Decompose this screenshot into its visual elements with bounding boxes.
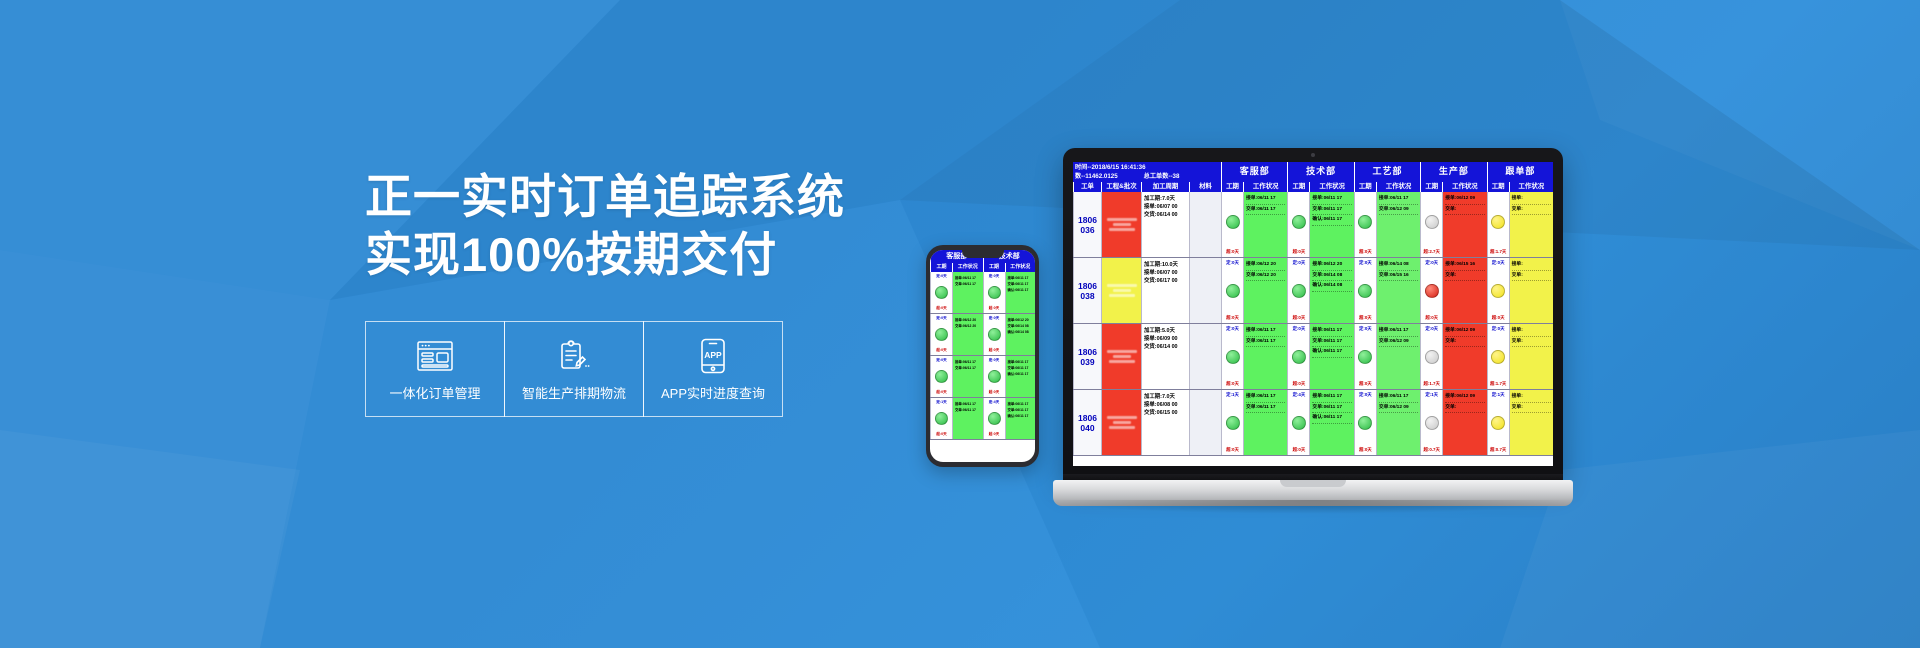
work-order-cell: 1806038 xyxy=(1073,258,1101,323)
table-row[interactable]: 1806038加工期:10.0天接单:06/07 00交货:06/17 00定:… xyxy=(1073,258,1553,324)
phone-status-cell-0: 接单:06/12 20交单:06/12 20 xyxy=(952,314,983,355)
phone-status-indicator-green xyxy=(988,370,1001,383)
deliver-date: 交单: xyxy=(1512,206,1551,216)
duration-cell-工艺部: 超:0天 xyxy=(1354,192,1376,257)
erp-row-list: 1806036加工期:7.0天接单:06/07 00交货:06/14 00超:0… xyxy=(1073,192,1553,456)
receive-date: 接单:06/12 09 xyxy=(1445,327,1484,337)
over-days: 超:1.7天 xyxy=(1424,381,1440,387)
over-days: 超:0天 xyxy=(1492,315,1505,321)
erp-sub-col-1-0: 工期 xyxy=(1287,182,1309,192)
phone-status-cell-0: 接单:06/11 17交单:06/11 17 xyxy=(952,272,983,313)
erp-count-label: 数--11462.0125 xyxy=(1075,172,1118,181)
work-status-cell-跟单部: 接单:交单: xyxy=(1509,192,1553,257)
erp-base-col-1: 工程&批次 xyxy=(1101,182,1141,192)
phone-over-days: 超:0天 xyxy=(936,390,946,395)
erp-sub-col-2-0: 工期 xyxy=(1354,182,1376,192)
work-status-cell-客服部: 接单:06/11 17交单:06/11 17 xyxy=(1243,390,1287,455)
work-status-cell-生产部: 接单:06/12 09交单: xyxy=(1442,324,1486,389)
svg-text:APP: APP xyxy=(704,350,722,360)
status-indicator-green xyxy=(1226,416,1240,430)
erp-sub-col-0-0: 工期 xyxy=(1221,182,1243,192)
plan-days-top: 定:0天 xyxy=(1425,260,1438,266)
work-status-cell-技术部: 接单:06/11 17交单:06/11 17确认:06/11 17 xyxy=(1309,324,1353,389)
redacted-line xyxy=(1107,284,1137,287)
phone-col-duration-1: 工期 xyxy=(983,263,1005,272)
material-cell xyxy=(1189,390,1221,455)
phone-over-days: 超:0天 xyxy=(936,306,946,311)
phone-duration-cell-0: 定:0天超:0天 xyxy=(930,356,952,397)
phone-deliver-date: 交单:06/11 17 xyxy=(955,407,981,413)
duration-cell-客服部: 定:0天超:0天 xyxy=(1221,324,1243,389)
confirm-date: 确认:06/11 17 xyxy=(1312,414,1351,424)
plan-days-top: 定:4天 xyxy=(1293,392,1306,398)
work-order-top: 1806 xyxy=(1078,215,1097,225)
work-status-cell-工艺部: 接单:06/11 17交单:06/12 09 xyxy=(1376,324,1420,389)
redacted-line xyxy=(1109,360,1135,363)
status-indicator-yellow xyxy=(1491,215,1505,229)
receive-date: 接单: xyxy=(1512,261,1551,271)
deliver-date: 交单:06/12 09 xyxy=(1379,206,1418,216)
feature-box-list: 一体化订单管理 智能生产排期物流 APP xyxy=(365,321,783,417)
laptop-mockup: 时间--2018/6/15 16:41:36 数--11462.0125 总工单… xyxy=(1053,148,1573,518)
plan-days-top: 定:0天 xyxy=(1359,260,1372,266)
plan-days-top: 定:0天 xyxy=(1293,260,1306,266)
due-date: 交货:06/15 00 xyxy=(1144,409,1187,417)
status-indicator-green xyxy=(1292,416,1306,430)
phone-duration-cell-0: 定:0天超:0天 xyxy=(930,272,952,313)
duration-cell-工艺部: 定:0天超:0天 xyxy=(1354,258,1376,323)
status-indicator-green xyxy=(1226,350,1240,364)
receive-date: 接单:06/11 17 xyxy=(1379,393,1418,403)
headline-line-1: 正一实时订单追踪系统 xyxy=(365,168,925,226)
phone-status-cell-1: 接单:06/12 20交单:06/14 08确认:06/14 08 xyxy=(1005,314,1036,355)
duration-cell-技术部: 定:4天超:0天 xyxy=(1287,390,1309,455)
work-status-cell-工艺部: 接单:06/14 08交单:06/15 16 xyxy=(1376,258,1420,323)
over-days: 超:0天 xyxy=(1226,249,1239,255)
erp-dept-3: 生产部 xyxy=(1420,162,1486,182)
redacted-line xyxy=(1113,421,1131,424)
phone-deliver-date: 交单:06/12 20 xyxy=(955,323,981,329)
deliver-date: 交单:06/11 17 xyxy=(1312,206,1351,216)
status-indicator-yellow xyxy=(1491,284,1505,298)
receive-date: 接单:06/12 20 xyxy=(1246,261,1285,271)
work-status-cell-工艺部: 接单:06/11 17交单:06/12 09 xyxy=(1376,192,1420,257)
erp-base-col-0: 工单 xyxy=(1073,182,1101,192)
phone-over-days: 超:0天 xyxy=(989,348,999,353)
redacted-line xyxy=(1113,355,1131,358)
work-status-cell-工艺部: 接单:06/11 17交单:06/12 09 xyxy=(1376,390,1420,455)
phone-duration-cell-0: 定:0天超:0天 xyxy=(930,314,952,355)
phone-table-row[interactable]: 定:1天超:0天接单:06/11 17交单:06/11 17定:4天超:0天接单… xyxy=(930,398,1035,440)
work-order-top: 1806 xyxy=(1078,281,1097,291)
plan-days-top: 定:0天 xyxy=(1492,326,1505,332)
duration-cell-跟单部: 定:0天超:0天 xyxy=(1487,258,1509,323)
deliver-date: 交单:06/14 08 xyxy=(1312,272,1351,282)
receive-date: 接单:06/11 17 xyxy=(1379,327,1418,337)
phone-status-cell-1: 接单:06/11 17交单:06/11 17确认:06/11 17 xyxy=(1005,356,1036,397)
work-status-cell-生产部: 接单:06/15 16交单: xyxy=(1442,258,1486,323)
due-date: 交货:06/14 00 xyxy=(1144,343,1187,351)
phone-confirm-date: 确认:06/11 17 xyxy=(1008,287,1034,293)
deliver-date: 交单:06/15 16 xyxy=(1379,272,1418,282)
mobile-app-icon: APP xyxy=(700,336,726,376)
plan-days-top: 定:1天 xyxy=(1425,392,1438,398)
deliver-date: 交单:06/12 20 xyxy=(1246,272,1285,282)
processing-cycle-cell: 加工期:10.0天接单:06/07 00交货:06/17 00 xyxy=(1141,258,1189,323)
erp-dept-1: 技术部 xyxy=(1287,162,1353,182)
erp-sub-col-3-1: 工作状况 xyxy=(1442,182,1486,192)
status-indicator-gray xyxy=(1425,215,1439,229)
work-order-cell: 1806039 xyxy=(1073,324,1101,389)
work-status-cell-生产部: 接单:06/12 09交单: xyxy=(1442,192,1486,257)
redacted-line xyxy=(1107,218,1137,221)
cycle-days: 加工期:7.0天 xyxy=(1144,393,1187,401)
table-row[interactable]: 1806040加工期:7.0天接单:06/08 00交货:06/15 00定:1… xyxy=(1073,390,1553,456)
deliver-date: 交单: xyxy=(1512,404,1551,414)
receive-date: 接单:06/11 17 xyxy=(1246,393,1285,403)
deliver-date: 交单: xyxy=(1445,206,1484,216)
erp-sub-col-1-1: 工作状况 xyxy=(1309,182,1353,192)
headline-line-2: 实现100%按期交付 xyxy=(365,226,925,284)
erp-dashboard: 时间--2018/6/15 16:41:36 数--11462.0125 总工单… xyxy=(1073,162,1553,466)
erp-sub-col-3-0: 工期 xyxy=(1420,182,1442,192)
feature-card-app-progress[interactable]: APP APP实时进度查询 xyxy=(643,321,783,417)
erp-dept-4: 跟单部 xyxy=(1487,162,1553,182)
table-row[interactable]: 1806036加工期:7.0天接单:06/07 00交货:06/14 00超:0… xyxy=(1073,192,1553,258)
over-days: 超:0天 xyxy=(1359,315,1372,321)
phone-duration-cell-1: 定:0天超:0天 xyxy=(983,356,1005,397)
duration-cell-技术部: 定:0天超:0天 xyxy=(1287,324,1309,389)
feature-card-production-scheduling[interactable]: 智能生产排期物流 xyxy=(504,321,644,417)
duration-cell-客服部: 超:0天 xyxy=(1221,192,1243,257)
laptop-shadow xyxy=(1039,500,1587,514)
processing-cycle-cell: 加工期:5.0天接单:06/09 00交货:06/14 00 xyxy=(1141,324,1189,389)
status-indicator-yellow xyxy=(1491,416,1505,430)
receive-date: 接单:06/11 17 xyxy=(1312,327,1351,337)
work-order-top: 1806 xyxy=(1078,347,1097,357)
erp-base-col-2: 加工周期 xyxy=(1141,182,1189,192)
order-in-date: 接单:06/08 00 xyxy=(1144,401,1187,409)
status-indicator-green xyxy=(1226,215,1240,229)
status-indicator-green xyxy=(1358,215,1372,229)
duration-cell-客服部: 定:0天超:0天 xyxy=(1221,258,1243,323)
receive-date: 接单: xyxy=(1512,195,1551,205)
phone-deliver-date: 交单:06/11 17 xyxy=(955,365,981,371)
duration-cell-工艺部: 定:0天超:0天 xyxy=(1354,324,1376,389)
erp-sub-col-0-1: 工作状况 xyxy=(1243,182,1287,192)
phone-col-status-0: 工作状况 xyxy=(952,263,983,272)
feature-label: 一体化订单管理 xyxy=(389,383,480,402)
receive-date: 接单:06/11 17 xyxy=(1379,195,1418,205)
redacted-line xyxy=(1109,294,1135,297)
redacted-line xyxy=(1113,223,1131,226)
over-days: 超:1.7天 xyxy=(1490,381,1506,387)
work-order-top: 1806 xyxy=(1078,413,1097,423)
phone-confirm-date: 确认:06/11 17 xyxy=(1008,371,1034,377)
work-status-cell-跟单部: 接单:交单: xyxy=(1509,258,1553,323)
erp-base-col-3: 材料 xyxy=(1189,182,1221,192)
deliver-date: 交单:06/11 17 xyxy=(1246,338,1285,348)
work-order-bottom: 036 xyxy=(1078,225,1097,235)
plan-days-top: 定:0天 xyxy=(1425,326,1438,332)
phone-duration-cell-1: 定:4天超:0天 xyxy=(983,398,1005,439)
status-indicator-green xyxy=(1292,284,1306,298)
phone-status-cell-0: 接单:06/11 17交单:06/11 17 xyxy=(952,398,983,439)
work-status-cell-技术部: 接单:06/12 20交单:06/14 08确认:06/14 08 xyxy=(1309,258,1353,323)
phone-subheader: 工期 工作状况 工期 工作状况 xyxy=(930,263,1035,272)
phone-row-list: 定:0天超:0天接单:06/11 17交单:06/11 17定:0天超:0天接单… xyxy=(930,272,1035,440)
confirm-date: 确认:06/11 17 xyxy=(1312,216,1351,226)
erp-sub-col-4-0: 工期 xyxy=(1487,182,1509,192)
deliver-date: 交单:06/12 09 xyxy=(1379,338,1418,348)
over-days: 超:2.7天 xyxy=(1424,249,1440,255)
laptop-screen[interactable]: 时间--2018/6/15 16:41:36 数--11462.0125 总工单… xyxy=(1073,162,1553,466)
laptop-lid: 时间--2018/6/15 16:41:36 数--11462.0125 总工单… xyxy=(1063,148,1563,478)
plan-days-top: 定:0天 xyxy=(1492,260,1505,266)
erp-sub-col-2-1: 工作状况 xyxy=(1376,182,1420,192)
over-days: 超:0天 xyxy=(1293,315,1306,321)
receive-date: 接单:06/14 08 xyxy=(1379,261,1418,271)
status-indicator-red xyxy=(1425,284,1439,298)
phone-plan-days: 定:1天 xyxy=(936,400,946,405)
phone-table-row[interactable]: 定:0天超:0天接单:06/11 17交单:06/11 17定:0天超:0天接单… xyxy=(930,356,1035,398)
over-days: 超:0天 xyxy=(1359,249,1372,255)
receive-date: 接单: xyxy=(1512,327,1551,337)
receive-date: 接单:06/12 09 xyxy=(1445,195,1484,205)
project-batch-cell xyxy=(1101,192,1141,257)
material-cell xyxy=(1189,192,1221,257)
work-status-cell-技术部: 接单:06/11 17交单:06/11 17确认:06/11 17 xyxy=(1309,192,1353,257)
hero-copy: 正一实时订单追踪系统 实现100%按期交付 xyxy=(365,168,925,284)
deliver-date: 交单:06/11 17 xyxy=(1312,404,1351,414)
work-status-cell-客服部: 接单:06/11 17交单:06/11 17 xyxy=(1243,324,1287,389)
phone-duration-cell-0: 定:1天超:0天 xyxy=(930,398,952,439)
plan-days-top: 定:1天 xyxy=(1492,392,1505,398)
phone-confirm-date: 确认:06/14 08 xyxy=(1008,329,1034,335)
status-indicator-green xyxy=(1358,350,1372,364)
status-indicator-gray xyxy=(1425,350,1439,364)
phone-over-days: 超:0天 xyxy=(936,432,946,437)
processing-cycle-cell: 加工期:7.0天接单:06/07 00交货:06/14 00 xyxy=(1141,192,1189,257)
deliver-date: 交单: xyxy=(1445,338,1484,348)
table-row[interactable]: 1806039加工期:5.0天接单:06/09 00交货:06/14 00定:0… xyxy=(1073,324,1553,390)
phone-col-status-1: 工作状况 xyxy=(1005,263,1036,272)
erp-dept-0: 客服部 xyxy=(1221,162,1287,182)
duration-cell-工艺部: 定:0天超:0天 xyxy=(1354,390,1376,455)
due-date: 交货:06/17 00 xyxy=(1144,277,1187,285)
phone-screen[interactable]: 客服部 技术部 工期 工作状况 工期 工作状况 定:0天超:0天接单:06/11… xyxy=(930,250,1035,462)
phone-status-indicator-green xyxy=(988,328,1001,341)
processing-cycle-cell: 加工期:7.0天接单:06/08 00交货:06/15 00 xyxy=(1141,390,1189,455)
order-in-date: 接单:06/09 00 xyxy=(1144,335,1187,343)
deliver-date: 交单: xyxy=(1445,272,1484,282)
phone-plan-days: 定:0天 xyxy=(936,274,946,279)
phone-deliver-date: 交单:06/11 17 xyxy=(955,281,981,287)
plan-days-top: 定:0天 xyxy=(1359,326,1372,332)
work-order-bottom: 040 xyxy=(1078,423,1097,433)
phone-over-days: 超:0天 xyxy=(989,306,999,311)
phone-over-days: 超:0天 xyxy=(989,432,999,437)
feature-label: 智能生产排期物流 xyxy=(522,383,626,402)
plan-days-top: 定:0天 xyxy=(1226,260,1239,266)
material-cell xyxy=(1189,258,1221,323)
receive-date: 接单:06/11 17 xyxy=(1246,327,1285,337)
plan-days-top: 定:0天 xyxy=(1359,392,1372,398)
status-indicator-gray xyxy=(1425,416,1439,430)
phone-notch xyxy=(962,250,1004,258)
erp-column-header: 工单工程&批次加工周期材料工期工作状况工期工作状况工期工作状况工期工作状况工期工… xyxy=(1073,182,1553,192)
duration-cell-技术部: 定:0天超:0天 xyxy=(1287,258,1309,323)
deliver-date: 交单: xyxy=(1512,338,1551,348)
work-status-cell-跟单部: 接单:交单: xyxy=(1509,324,1553,389)
work-order-cell: 1806036 xyxy=(1073,192,1101,257)
erp-time-label: 时间--2018/6/15 16:41:36 xyxy=(1075,163,1146,172)
duration-cell-生产部: 定:0天超:1.7天 xyxy=(1420,324,1442,389)
work-order-bottom: 038 xyxy=(1078,291,1097,301)
deliver-date: 交单:06/12 09 xyxy=(1379,404,1418,414)
duration-cell-技术部: 超:0天 xyxy=(1287,192,1309,257)
duration-cell-跟单部: 超:1.7天 xyxy=(1487,192,1509,257)
feature-label: APP实时进度查询 xyxy=(661,383,765,402)
over-days: 超:0天 xyxy=(1226,381,1239,387)
cycle-days: 加工期:5.0天 xyxy=(1144,327,1187,335)
phone-status-cell-1: 接单:06/11 17交单:06/11 17确认:06/11 17 xyxy=(1005,398,1036,439)
phone-confirm-date: 确认:06/11 17 xyxy=(1008,413,1034,419)
deliver-date: 交单:06/11 17 xyxy=(1246,206,1285,216)
status-indicator-green xyxy=(1292,350,1306,364)
over-days: 超:0天 xyxy=(1359,447,1372,453)
plan-days-top: 定:1天 xyxy=(1226,392,1239,398)
smartphone-mockup: 客服部 技术部 工期 工作状况 工期 工作状况 定:0天超:0天接单:06/11… xyxy=(926,245,1039,467)
material-cell xyxy=(1189,324,1221,389)
plan-days-top: 定:0天 xyxy=(1226,326,1239,332)
phone-status-indicator-green xyxy=(935,412,948,425)
due-date: 交货:06/14 00 xyxy=(1144,211,1187,219)
phone-col-duration-0: 工期 xyxy=(930,263,952,272)
receive-date: 接单:06/15 16 xyxy=(1445,261,1484,271)
over-days: 超:0天 xyxy=(1293,447,1306,453)
phone-status-cell-0: 接单:06/11 17交单:06/11 17 xyxy=(952,356,983,397)
work-status-cell-客服部: 接单:06/12 20交单:06/12 20 xyxy=(1243,258,1287,323)
duration-cell-生产部: 超:2.7天 xyxy=(1420,192,1442,257)
phone-plan-days: 定:0天 xyxy=(936,316,946,321)
deliver-date: 交单: xyxy=(1512,272,1551,282)
phone-status-cell-1: 接单:06/11 17交单:06/11 17确认:06/11 17 xyxy=(1005,272,1036,313)
clipboard-pencil-icon xyxy=(557,336,591,376)
status-indicator-green xyxy=(1358,416,1372,430)
over-days: 超:0天 xyxy=(1359,381,1372,387)
project-batch-cell xyxy=(1101,390,1141,455)
receive-date: 接单:06/12 20 xyxy=(1312,261,1351,271)
phone-plan-days: 定:0天 xyxy=(989,274,999,279)
phone-table-row[interactable]: 定:0天超:0天接单:06/11 17交单:06/11 17定:0天超:0天接单… xyxy=(930,272,1035,314)
status-indicator-green xyxy=(1358,284,1372,298)
phone-status-indicator-green xyxy=(935,370,948,383)
over-days: 超:0天 xyxy=(1425,315,1438,321)
redacted-line xyxy=(1107,350,1137,353)
redacted-line xyxy=(1109,426,1135,429)
project-batch-cell xyxy=(1101,324,1141,389)
receive-date: 接单:06/12 09 xyxy=(1445,393,1484,403)
phone-plan-days: 定:0天 xyxy=(936,358,946,363)
phone-over-days: 超:0天 xyxy=(989,390,999,395)
over-days: 超:0.7天 xyxy=(1490,447,1506,453)
phone-duration-cell-1: 定:0天超:0天 xyxy=(983,314,1005,355)
browser-window-icon xyxy=(416,336,454,376)
project-batch-cell xyxy=(1101,258,1141,323)
over-days: 超:0天 xyxy=(1226,315,1239,321)
receive-date: 接单: xyxy=(1512,393,1551,403)
phone-erp-app: 客服部 技术部 工期 工作状况 工期 工作状况 定:0天超:0天接单:06/11… xyxy=(930,250,1035,462)
over-days: 超:0.7天 xyxy=(1424,447,1440,453)
duration-cell-生产部: 定:1天超:0.7天 xyxy=(1420,390,1442,455)
status-indicator-green xyxy=(1226,284,1240,298)
erp-department-header: 客服部技术部工艺部生产部跟单部 xyxy=(1221,162,1553,182)
receive-date: 接单:06/11 17 xyxy=(1312,195,1351,205)
work-status-cell-技术部: 接单:06/11 17交单:06/11 17确认:06/11 17 xyxy=(1309,390,1353,455)
over-days: 超:1.7天 xyxy=(1490,249,1506,255)
erp-total-orders-label: 总工单数--38 xyxy=(1144,172,1180,181)
status-indicator-green xyxy=(1292,215,1306,229)
webcam-icon xyxy=(1311,153,1315,157)
order-in-date: 接单:06/07 00 xyxy=(1144,203,1187,211)
phone-table-row[interactable]: 定:0天超:0天接单:06/12 20交单:06/12 20定:0天超:0天接单… xyxy=(930,314,1035,356)
erp-sub-col-4-1: 工作状况 xyxy=(1509,182,1553,192)
redacted-line xyxy=(1109,228,1135,231)
order-in-date: 接单:06/07 00 xyxy=(1144,269,1187,277)
plan-days-top: 定:0天 xyxy=(1293,326,1306,332)
phone-plan-days: 定:4天 xyxy=(989,400,999,405)
duration-cell-客服部: 定:1天超:0天 xyxy=(1221,390,1243,455)
erp-top-header: 时间--2018/6/15 16:41:36 数--11462.0125 总工单… xyxy=(1073,162,1553,182)
deliver-date: 交单: xyxy=(1445,404,1484,414)
duration-cell-生产部: 定:0天超:0天 xyxy=(1420,258,1442,323)
cycle-days: 加工期:7.0天 xyxy=(1144,195,1187,203)
phone-status-indicator-green xyxy=(988,286,1001,299)
cycle-days: 加工期:10.0天 xyxy=(1144,261,1187,269)
work-order-bottom: 039 xyxy=(1078,357,1097,367)
receive-date: 接单:06/11 17 xyxy=(1312,393,1351,403)
erp-meta-block: 时间--2018/6/15 16:41:36 数--11462.0125 总工单… xyxy=(1073,162,1221,182)
phone-status-indicator-green xyxy=(935,328,948,341)
deliver-date: 交单:06/11 17 xyxy=(1246,404,1285,414)
status-indicator-yellow xyxy=(1491,350,1505,364)
feature-card-order-management[interactable]: 一体化订单管理 xyxy=(365,321,505,417)
phone-duration-cell-1: 定:0天超:0天 xyxy=(983,272,1005,313)
receive-date: 接单:06/11 17 xyxy=(1246,195,1285,205)
redacted-line xyxy=(1113,289,1131,292)
work-status-cell-生产部: 接单:06/12 09交单: xyxy=(1442,390,1486,455)
duration-cell-跟单部: 定:0天超:1.7天 xyxy=(1487,324,1509,389)
erp-dept-2: 工艺部 xyxy=(1354,162,1420,182)
over-days: 超:0天 xyxy=(1293,249,1306,255)
duration-cell-跟单部: 定:1天超:0.7天 xyxy=(1487,390,1509,455)
phone-status-indicator-green xyxy=(935,286,948,299)
redacted-line xyxy=(1107,416,1137,419)
confirm-date: 确认:06/11 17 xyxy=(1312,348,1351,358)
work-order-cell: 1806040 xyxy=(1073,390,1101,455)
over-days: 超:0天 xyxy=(1226,447,1239,453)
confirm-date: 确认:06/14 08 xyxy=(1312,282,1351,292)
phone-status-indicator-green xyxy=(988,412,1001,425)
work-status-cell-客服部: 接单:06/11 17交单:06/11 17 xyxy=(1243,192,1287,257)
work-status-cell-跟单部: 接单:交单: xyxy=(1509,390,1553,455)
deliver-date: 交单:06/11 17 xyxy=(1312,338,1351,348)
phone-over-days: 超:0天 xyxy=(936,348,946,353)
over-days: 超:0天 xyxy=(1293,381,1306,387)
phone-plan-days: 定:0天 xyxy=(989,316,999,321)
phone-plan-days: 定:0天 xyxy=(989,358,999,363)
